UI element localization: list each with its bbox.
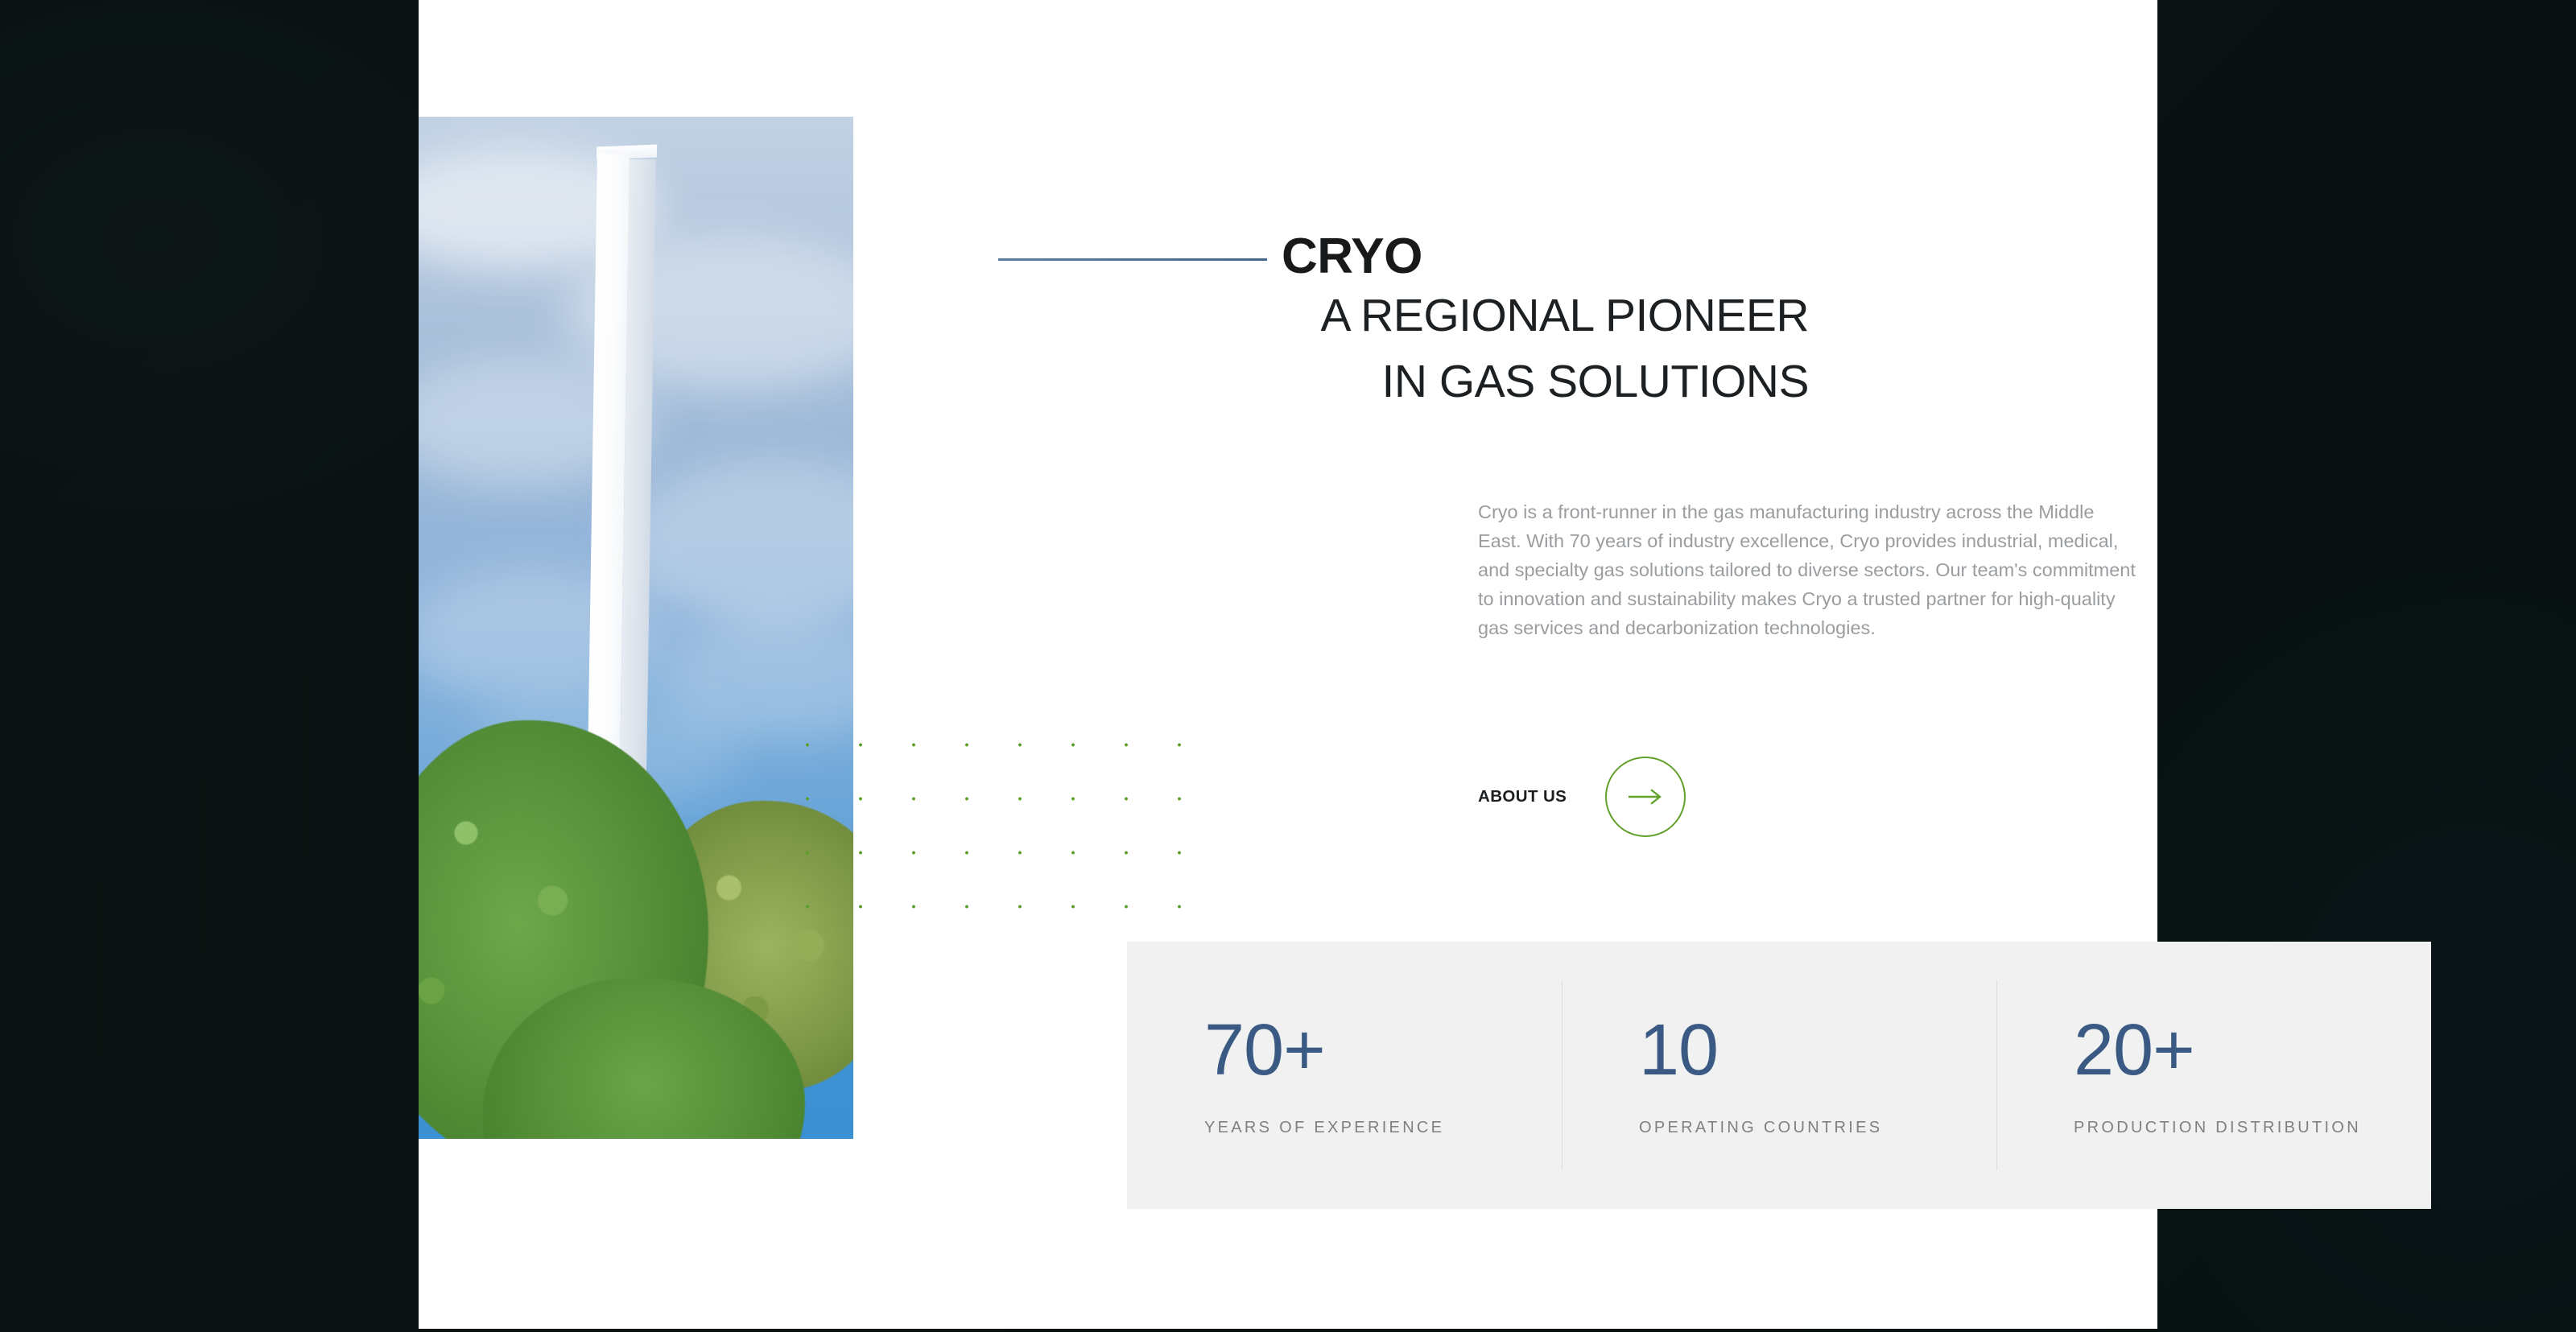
stat-label: PRODUCTION DISTRIBUTION [2074, 1119, 2431, 1137]
headline-line-2: IN GAS SOLUTIONS [998, 357, 1809, 406]
stat-label: OPERATING COUNTRIES [1639, 1119, 1996, 1137]
statistics-card: 70+ YEARS OF EXPERIENCE 10 OPERATING COU… [1127, 942, 2431, 1209]
about-us-arrow-button[interactable] [1605, 757, 1686, 837]
website-page-panel: CRYO A REGIONAL PIONEER IN GAS SOLUTIONS… [419, 0, 2157, 1329]
stat-value: 70+ [1204, 1014, 1562, 1087]
stat-item: 70+ YEARS OF EXPERIENCE [1127, 942, 1562, 1209]
stat-item: 20+ PRODUCTION DISTRIBUTION [1996, 942, 2431, 1209]
brand-title: CRYO [1282, 232, 1422, 282]
about-us-label: ABOUT US [1478, 787, 1567, 806]
stat-value: 10 [1639, 1014, 1996, 1087]
title-rule-decoration [998, 258, 1267, 261]
arrow-right-icon [1627, 788, 1664, 806]
stat-label: YEARS OF EXPERIENCE [1204, 1119, 1562, 1137]
stat-value: 20+ [2074, 1014, 2431, 1087]
brand-title-row: CRYO [998, 221, 1803, 293]
description-paragraph: Cryo is a front-runner in the gas manufa… [1478, 498, 2138, 643]
about-us-cta[interactable]: ABOUT US [1478, 757, 1686, 837]
headline-line-1: A REGIONAL PIONEER [998, 291, 1809, 340]
hero-image [419, 117, 853, 1139]
stat-item: 10 OPERATING COUNTRIES [1562, 942, 1996, 1209]
